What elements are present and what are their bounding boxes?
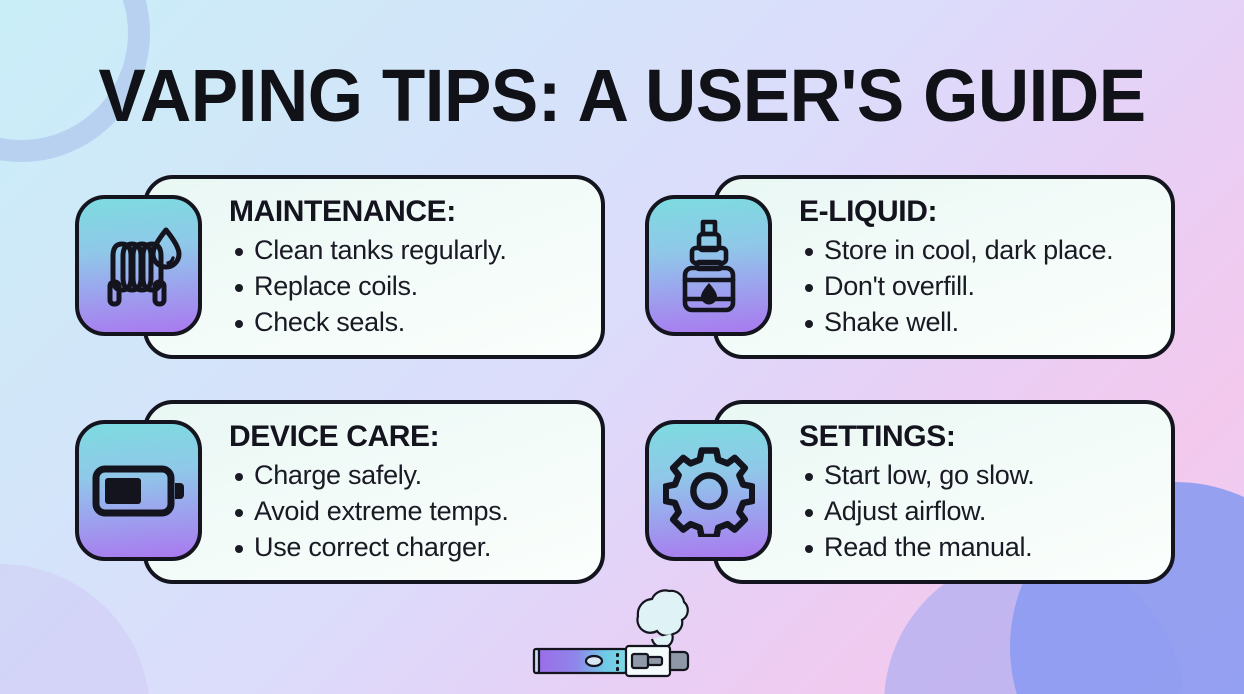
list-item: Avoid extreme temps.: [229, 493, 587, 529]
card-heading: E-LIQUID:: [799, 193, 1157, 231]
infographic-poster: VAPING TIPS: A USER'S GUIDE MAINTENANCE:…: [0, 0, 1244, 694]
tip-card-maintenance: MAINTENANCE: Clean tanks regularly. Repl…: [143, 175, 605, 359]
list-item: Store in cool, dark place.: [799, 232, 1157, 268]
list-item: Shake well.: [799, 304, 1157, 340]
tip-card-settings: SETTINGS: Start low, go slow. Adjust air…: [713, 400, 1175, 584]
card-heading: MAINTENANCE:: [229, 193, 587, 231]
tip-list: Clean tanks regularly. Replace coils. Ch…: [229, 232, 587, 340]
vape-pen-with-vapor-cloud-icon: [520, 576, 720, 686]
gear-icon: [663, 445, 755, 537]
list-item: Check seals.: [229, 304, 587, 340]
tip-card-device-care: DEVICE CARE: Charge safely. Avoid extrem…: [143, 400, 605, 584]
dropper-bottle-icon: [667, 218, 751, 314]
list-item: Don't overfill.: [799, 268, 1157, 304]
tip-list: Store in cool, dark place. Don't overfil…: [799, 232, 1157, 340]
gear-icon-tile: [645, 420, 772, 561]
list-item: Start low, go slow.: [799, 457, 1157, 493]
battery-icon: [91, 461, 187, 521]
list-item: Adjust airflow.: [799, 493, 1157, 529]
vape-coil-droplet-icon: [93, 220, 185, 312]
list-item: Replace coils.: [229, 268, 587, 304]
list-item: Read the manual.: [799, 529, 1157, 565]
card-heading: SETTINGS:: [799, 418, 1157, 456]
list-item: Clean tanks regularly.: [229, 232, 587, 268]
card-heading: DEVICE CARE:: [229, 418, 587, 456]
tip-list: Charge safely. Avoid extreme temps. Use …: [229, 457, 587, 565]
vape-coil-droplet-icon-tile: [75, 195, 202, 336]
list-item: Use correct charger.: [229, 529, 587, 565]
battery-icon-tile: [75, 420, 202, 561]
background-blob-bottom-left: [0, 564, 150, 694]
tip-list: Start low, go slow. Adjust airflow. Read…: [799, 457, 1157, 565]
tip-card-e-liquid: E-LIQUID: Store in cool, dark place. Don…: [713, 175, 1175, 359]
dropper-bottle-icon-tile: [645, 195, 772, 336]
list-item: Charge safely.: [229, 457, 587, 493]
page-title: VAPING TIPS: A USER'S GUIDE: [25, 57, 1219, 135]
